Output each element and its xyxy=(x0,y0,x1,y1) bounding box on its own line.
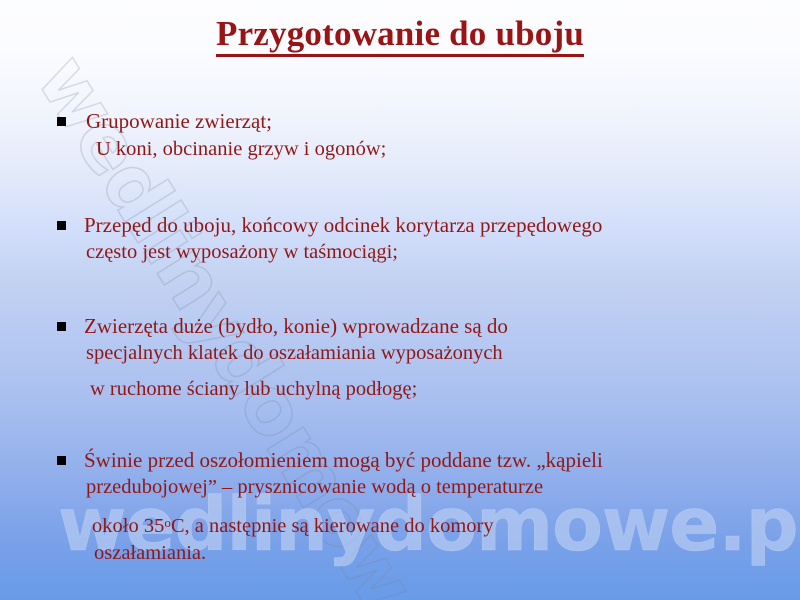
slide: Przygotowanie do uboju Grupowanie zwierz… xyxy=(0,0,800,600)
list-item-line: przedubojowej” – prysznicowanie wodą o t… xyxy=(86,474,800,500)
list-item-line: w ruchome ściany lub uchylną podłogę; xyxy=(90,376,800,402)
list-item-line: Zwierzęta duże (bydło, konie) wprowadzan… xyxy=(84,313,800,339)
list-item: Świnie przed oszołomieniem mogą być podd… xyxy=(0,447,800,566)
list-item: Grupowanie zwierząt; U koni, obcinanie g… xyxy=(0,108,800,162)
square-bullet-icon xyxy=(57,322,66,331)
list-item-line: Świnie przed oszołomieniem mogą być podd… xyxy=(84,447,800,473)
page-title-text: Przygotowanie do uboju xyxy=(216,14,584,57)
list-item-line: Grupowanie zwierząt; xyxy=(86,108,800,134)
list-item-line: oszałamiania. xyxy=(94,540,800,566)
square-bullet-icon xyxy=(57,221,66,230)
list-item-line-temperature: około 35oC, a następnie są kierowane do … xyxy=(92,510,800,539)
page-title: Przygotowanie do uboju xyxy=(0,14,800,54)
list-item-line: często jest wyposażony w taśmociągi; xyxy=(86,239,800,265)
list-item-line: U koni, obcinanie grzyw i ogonów; xyxy=(96,136,800,162)
square-bullet-icon xyxy=(57,117,66,126)
list-item: Zwierzęta duże (bydło, konie) wprowadzan… xyxy=(0,313,800,402)
temperature-prefix: około 35 xyxy=(92,515,164,537)
list-item-line: specjalnych klatek do oszałamiania wypos… xyxy=(86,340,800,366)
temperature-suffix: C, a następnie są kierowane do komory xyxy=(171,515,494,537)
list-item: Przepęd do uboju, końcowy odcinek koryta… xyxy=(0,212,800,265)
list-item-line: Przepęd do uboju, końcowy odcinek koryta… xyxy=(84,212,800,238)
square-bullet-icon xyxy=(57,456,66,465)
bullet-list: Grupowanie zwierząt; U koni, obcinanie g… xyxy=(0,108,800,566)
